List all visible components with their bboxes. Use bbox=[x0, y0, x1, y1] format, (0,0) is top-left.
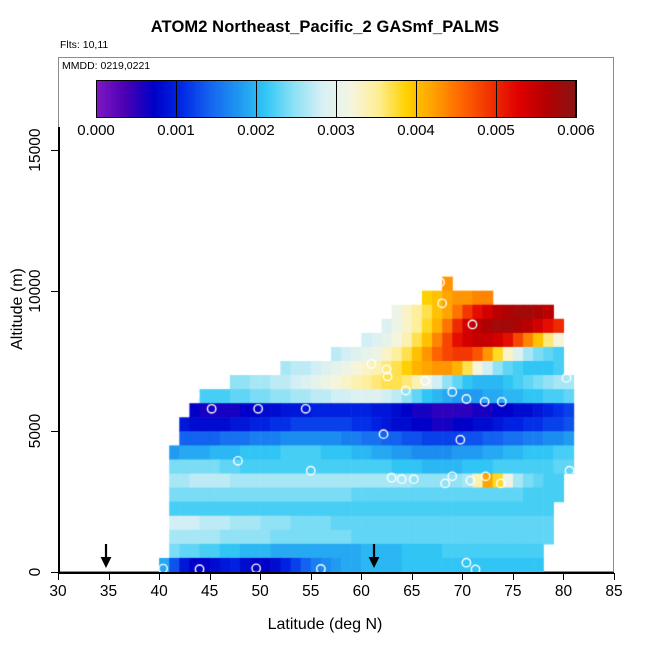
colorbar-tick-label: 0.004 bbox=[397, 122, 435, 139]
flights-annotation: Flts: 10,11 bbox=[60, 39, 108, 51]
y-axis-tick bbox=[51, 291, 58, 292]
colorbar-tick-label: 0.003 bbox=[317, 122, 355, 139]
colorbar-tick-label: 0.006 bbox=[557, 122, 595, 139]
y-axis-tick-label: 15000 bbox=[27, 120, 45, 180]
colorbar-tick bbox=[416, 80, 417, 118]
plot-root: ATOM2 Northeast_Pacific_2 GASmf_PALMS Fl… bbox=[0, 0, 650, 650]
down-arrow-icon bbox=[367, 544, 381, 568]
x-axis-tick-label: 75 bbox=[504, 583, 521, 601]
x-axis-tick bbox=[563, 573, 564, 580]
x-axis-tick bbox=[412, 573, 413, 580]
x-axis-tick-label: 70 bbox=[454, 583, 471, 601]
y-axis-title: Altitude (m) bbox=[9, 229, 27, 389]
x-axis-tick bbox=[159, 573, 160, 580]
x-axis-title: Latitude (deg N) bbox=[0, 616, 650, 634]
x-axis-tick bbox=[58, 573, 59, 580]
colorbar-tick bbox=[176, 80, 177, 118]
colorbar-tick bbox=[336, 80, 337, 118]
x-axis-tick-label: 80 bbox=[555, 583, 572, 601]
y-axis-tick bbox=[51, 572, 58, 573]
x-axis-tick-label: 85 bbox=[605, 583, 622, 601]
x-axis-tick bbox=[109, 573, 110, 580]
x-axis-tick-label: 35 bbox=[100, 583, 117, 601]
x-axis-tick-label: 40 bbox=[150, 583, 167, 601]
x-axis-tick-label: 30 bbox=[49, 583, 66, 601]
y-axis-tick-label: 5000 bbox=[27, 401, 45, 461]
colorbar: 0.0000.0010.0020.0030.0040.0050.006 bbox=[96, 80, 576, 118]
colorbar-tick bbox=[256, 80, 257, 118]
colorbar-tick-label: 0.005 bbox=[477, 122, 515, 139]
x-axis-line bbox=[58, 572, 614, 574]
x-axis-tick-label: 45 bbox=[201, 583, 218, 601]
x-axis-tick bbox=[462, 573, 463, 580]
x-axis-tick bbox=[260, 573, 261, 580]
x-axis-tick bbox=[210, 573, 211, 580]
colorbar-tick bbox=[576, 80, 577, 118]
x-axis-tick-label: 65 bbox=[403, 583, 420, 601]
colorbar-tick-label: 0.002 bbox=[237, 122, 275, 139]
x-axis-tick bbox=[361, 573, 362, 580]
x-axis-tick-label: 55 bbox=[302, 583, 319, 601]
colorbar-tick bbox=[496, 80, 497, 118]
x-axis-tick-label: 50 bbox=[252, 583, 269, 601]
y-axis-line bbox=[58, 127, 60, 572]
colorbar-tick-label: 0.000 bbox=[77, 122, 115, 139]
x-axis-tick-label: 60 bbox=[353, 583, 370, 601]
x-axis-tick bbox=[311, 573, 312, 580]
y-axis-tick-label: 0 bbox=[27, 542, 45, 602]
page-title: ATOM2 Northeast_Pacific_2 GASmf_PALMS bbox=[0, 18, 650, 37]
x-axis-tick bbox=[614, 573, 615, 580]
x-axis-tick bbox=[513, 573, 514, 580]
y-axis-tick-label: 10000 bbox=[27, 261, 45, 321]
colorbar-tick-label: 0.001 bbox=[157, 122, 195, 139]
down-arrow-icon bbox=[99, 544, 113, 568]
y-axis-tick bbox=[51, 431, 58, 432]
y-axis-tick bbox=[51, 150, 58, 151]
